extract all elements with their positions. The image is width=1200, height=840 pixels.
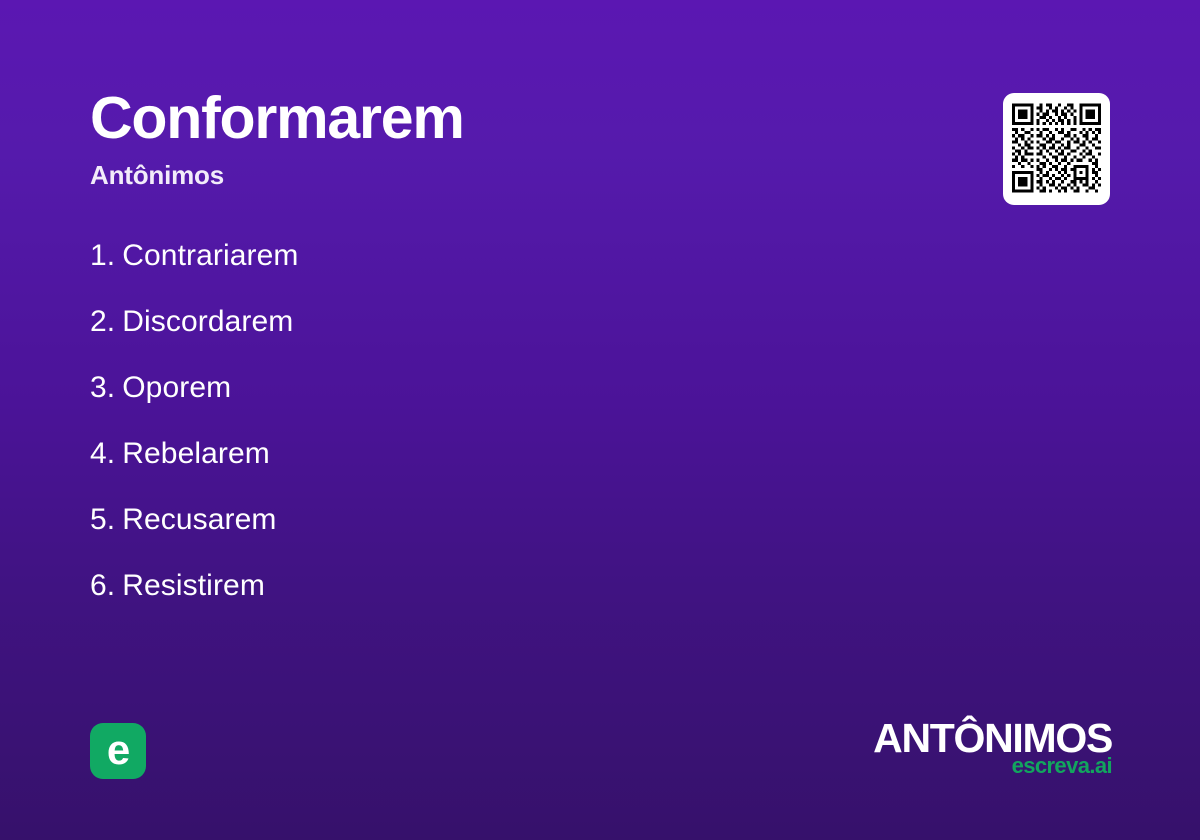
list-item: 2.Discordarem: [90, 302, 298, 368]
list-item: 4.Rebelarem: [90, 434, 298, 500]
list-item: 1.Contrariarem: [90, 236, 298, 302]
list-item-number: 5.: [90, 503, 115, 536]
list-item: 3.Oporem: [90, 368, 298, 434]
antonyms-card: Conformarem Antônimos: [0, 0, 1200, 840]
antonyms-list: 1.Contrariarem 2.Discordarem 3.Oporem 4.…: [90, 236, 298, 632]
qr-code-icon: [1012, 102, 1101, 194]
list-item-label: Recusarem: [122, 503, 276, 536]
page-subtitle: Antônimos: [90, 160, 464, 191]
list-item-number: 4.: [90, 437, 115, 470]
header: Conformarem Antônimos: [90, 88, 464, 191]
page-title: Conformarem: [90, 88, 464, 148]
list-item-label: Oporem: [122, 371, 231, 404]
list-item: 6.Resistirem: [90, 566, 298, 632]
qr-code-card[interactable]: [1003, 93, 1110, 205]
list-item-number: 2.: [90, 305, 115, 338]
escreva-logo-badge: e: [90, 723, 146, 779]
list-item-label: Contrariarem: [122, 239, 298, 272]
list-item-label: Discordarem: [122, 305, 293, 338]
list-item-number: 1.: [90, 239, 115, 272]
list-item-number: 3.: [90, 371, 115, 404]
brand-lockup: ANTÔNIMOS escreva.ai: [873, 718, 1112, 777]
list-item-label: Rebelarem: [122, 437, 270, 470]
list-item: 5.Recusarem: [90, 500, 298, 566]
list-item-label: Resistirem: [122, 569, 265, 602]
list-item-number: 6.: [90, 569, 115, 602]
badge-letter: e: [107, 729, 129, 771]
